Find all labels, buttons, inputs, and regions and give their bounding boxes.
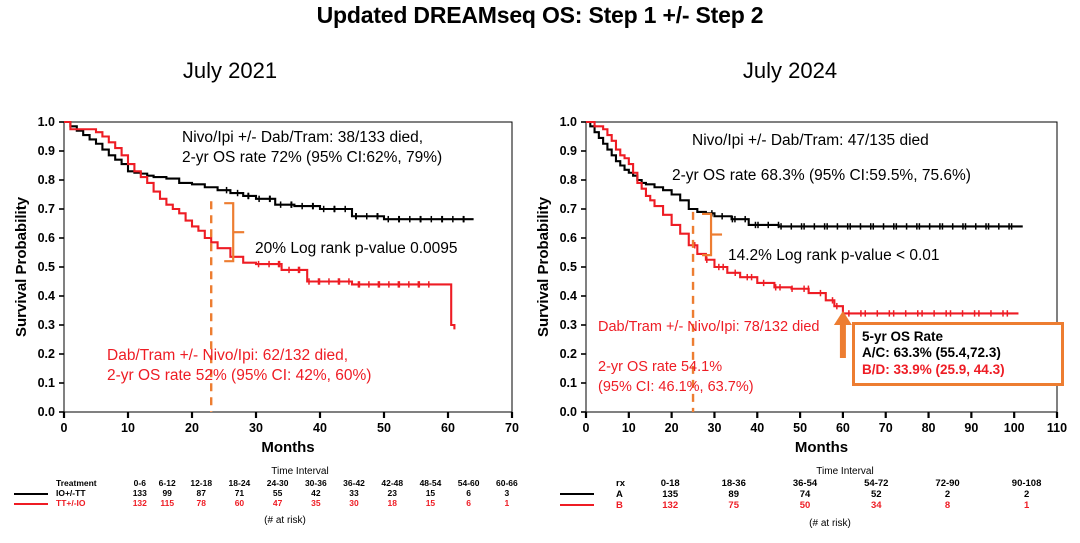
risk-count: 15 [411, 498, 449, 508]
five-year-os-callout: 5-yr OS Rate A/C: 63.3% (55.4,72.3) B/D:… [852, 322, 1064, 386]
risk-row-label: A [616, 489, 642, 500]
y-tick-label: 0.4 [560, 289, 577, 303]
x-axis-label: Months [261, 439, 314, 456]
risk-count: 71 [220, 488, 258, 498]
x-tick-label: 10 [622, 421, 636, 435]
risk-count: 55 [259, 488, 297, 498]
interval-header-2: 12-18 [182, 478, 220, 488]
x-tick-label: 20 [665, 421, 679, 435]
risk-count: 89 [698, 489, 769, 500]
risk-count: 34 [841, 500, 912, 511]
table-row: TT+/-IO1321157860473530181561 [14, 498, 526, 508]
risk-table-header-row: rx0-1818-3636-5454-7272-9090-108 [560, 478, 1070, 489]
y-tick-label: 0.2 [560, 347, 577, 361]
interval-header-4: 24-30 [259, 478, 297, 488]
risk-count: 133 [127, 488, 152, 498]
y-tick-label: 0.9 [560, 144, 577, 158]
y-tick-label: 0.9 [38, 144, 55, 158]
legend-line-icon [560, 504, 594, 506]
annotation-red-line-2: 2-yr OS rate 52% (95% CI: 42%, 60%) [107, 367, 371, 384]
x-tick-label: 60 [836, 421, 850, 435]
y-tick-label: 0.4 [38, 289, 55, 303]
y-tick-label: 0.3 [560, 318, 577, 332]
x-tick-label: 70 [505, 421, 519, 435]
risk-count: 6 [450, 498, 488, 508]
y-tick-label: 0.5 [38, 260, 55, 274]
x-tick-label: 30 [249, 421, 263, 435]
annotation-red-line-2: 2-yr OS rate 54.1% [598, 359, 722, 375]
x-tick-label: 110 [1047, 421, 1067, 435]
annotation-red-line-3: (95% CI: 46.1%, 63.7%) [598, 379, 754, 395]
legend-key-red [560, 500, 616, 511]
risk-count: 74 [769, 489, 840, 500]
risk-count: 75 [698, 500, 769, 511]
risk-count: 135 [642, 489, 698, 500]
legend-line-icon [14, 503, 48, 505]
annotation-logrank: 14.2% Log rank p-value < 0.01 [728, 247, 940, 264]
annotation-red-line-1: Dab/Tram +/- Nivo/Ipi: 62/132 died, [107, 347, 348, 364]
legend-key-black [14, 488, 56, 498]
page-title: Updated DREAMseq OS: Step 1 +/- Step 2 [0, 2, 1080, 29]
risk-count: 42 [297, 488, 335, 498]
at-risk-footer: (# at risk) [14, 515, 526, 526]
risk-count: 30 [335, 498, 373, 508]
x-tick-label: 10 [121, 421, 135, 435]
x-tick-label: 0 [583, 421, 590, 435]
y-tick-label: 0.7 [38, 202, 55, 216]
risk-count: 23 [373, 488, 411, 498]
interval-header-4: 72-90 [912, 478, 983, 489]
y-tick-label: 1.0 [560, 115, 577, 129]
interval-header-3: 54-72 [841, 478, 912, 489]
y-tick-label: 0.5 [560, 260, 577, 274]
risk-count: 6 [450, 488, 488, 498]
interval-header-0: 0-18 [642, 478, 698, 489]
annotation-black-line-2: 2-yr OS rate 68.3% (95% CI:59.5%, 75.6%) [672, 167, 971, 184]
callout-title: 5-yr OS Rate [862, 329, 1055, 345]
risk-row-label: B [616, 500, 642, 511]
annotation-black-line-2: 2-yr OS rate 72% (95% CI:62%, 79%) [182, 149, 442, 166]
annotation-red-line-1: Dab/Tram +/- Nivo/Ipi: 78/132 died [598, 319, 820, 335]
y-tick-label: 1.0 [38, 115, 55, 129]
risk-row-label: TT+/-IO [56, 498, 127, 508]
y-tick-label: 0.1 [560, 376, 577, 390]
interval-header-1: 6-12 [152, 478, 182, 488]
risk-count: 132 [642, 500, 698, 511]
x-tick-label: 0 [61, 421, 68, 435]
risk-count: 99 [152, 488, 182, 498]
interval-header-0: 0-6 [127, 478, 152, 488]
legend-key-spacer [560, 478, 616, 489]
interval-header-6: 36-42 [335, 478, 373, 488]
risk-count: 1 [983, 500, 1070, 511]
legend-line-icon [560, 493, 594, 495]
risk-row-header: rx [616, 478, 642, 489]
risk-count: 8 [912, 500, 983, 511]
risk-count: 1 [488, 498, 526, 508]
risk-table-header-row: Treatment0-66-1212-1818-2424-3030-3636-4… [14, 478, 526, 488]
legend-line-icon [14, 493, 48, 495]
annotation-logrank: 20% Log rank p-value 0.0095 [255, 240, 458, 257]
y-tick-label: 0.0 [560, 405, 577, 419]
x-tick-label: 40 [313, 421, 327, 435]
x-tick-label: 50 [793, 421, 807, 435]
x-tick-label: 20 [185, 421, 199, 435]
risk-table: rx0-1818-3636-5454-7272-9090-108A1358974… [560, 478, 1070, 511]
x-tick-label: 50 [377, 421, 391, 435]
risk-count: 2 [983, 489, 1070, 500]
left-panel-heading: July 2021 [80, 58, 380, 84]
callout-arm-a: A/C: 63.3% (55.4,72.3) [862, 345, 1055, 361]
time-interval-label: Time Interval [560, 466, 1070, 477]
interval-header-5: 30-36 [297, 478, 335, 488]
km-plot-2021: 1.00.90.80.70.60.50.40.30.20.10.0Surviva… [12, 112, 532, 472]
interval-header-10: 60-66 [488, 478, 526, 488]
legend-key-red [14, 498, 56, 508]
interval-header-2: 36-54 [769, 478, 840, 489]
y-tick-label: 0.6 [560, 231, 577, 245]
risk-count: 115 [152, 498, 182, 508]
table-row: A13589745222 [560, 489, 1070, 500]
x-tick-label: 30 [708, 421, 722, 435]
slide-root: Updated DREAMseq OS: Step 1 +/- Step 2 J… [0, 0, 1080, 543]
annotation-black-line-1: Nivo/Ipi +/- Dab/Tram: 38/133 died, [182, 129, 423, 146]
y-axis-label: Survival Probability [13, 196, 30, 337]
y-tick-label: 0.8 [38, 173, 55, 187]
risk-count: 87 [182, 488, 220, 498]
x-tick-label: 80 [922, 421, 936, 435]
risk-count: 33 [335, 488, 373, 498]
risk-count: 3 [488, 488, 526, 498]
risk-count: 18 [373, 498, 411, 508]
at-risk-footer: (# at risk) [560, 518, 1070, 529]
x-tick-label: 70 [879, 421, 893, 435]
y-tick-label: 0.7 [560, 202, 577, 216]
legend-key-spacer [14, 478, 56, 488]
risk-count: 78 [182, 498, 220, 508]
risk-table: Treatment0-66-1212-1818-2424-3030-3636-4… [14, 478, 526, 508]
risk-count: 50 [769, 500, 840, 511]
x-tick-label: 60 [441, 421, 455, 435]
y-tick-label: 0.6 [38, 231, 55, 245]
y-tick-label: 0.8 [560, 173, 577, 187]
risk-count: 2 [912, 489, 983, 500]
legend-key-black [560, 489, 616, 500]
y-axis-label: Survival Probability [535, 196, 552, 337]
y-tick-label: 0.1 [38, 376, 55, 390]
risk-row-label: IO+/-TT [56, 488, 127, 498]
x-axis-label: Months [795, 439, 848, 456]
risk-table-2021: Time Interval Treatment0-66-1212-1818-24… [14, 466, 526, 526]
right-panel-heading: July 2024 [640, 58, 940, 84]
interval-header-3: 18-24 [220, 478, 258, 488]
time-interval-label: Time Interval [14, 466, 526, 477]
x-tick-label: 100 [1004, 421, 1025, 435]
interval-header-7: 42-48 [373, 478, 411, 488]
table-row: B13275503481 [560, 500, 1070, 511]
table-row: IO+/-TT133998771554233231563 [14, 488, 526, 498]
y-tick-label: 0.0 [38, 405, 55, 419]
callout-arm-b: B/D: 33.9% (25.9, 44.3) [862, 362, 1055, 378]
x-tick-label: 40 [750, 421, 764, 435]
risk-row-header: Treatment [56, 478, 127, 488]
risk-table-2024: Time Interval rx0-1818-3636-5454-7272-90… [560, 466, 1070, 529]
interval-header-8: 48-54 [411, 478, 449, 488]
interval-header-1: 18-36 [698, 478, 769, 489]
risk-count: 15 [411, 488, 449, 498]
y-tick-label: 0.2 [38, 347, 55, 361]
interval-header-5: 90-108 [983, 478, 1070, 489]
annotation-black-line-1: Nivo/Ipi +/- Dab/Tram: 47/135 died [692, 132, 929, 149]
km-plot-2024: 1.00.90.80.70.60.50.40.30.20.10.0Surviva… [532, 112, 1077, 472]
risk-count: 132 [127, 498, 152, 508]
risk-count: 52 [841, 489, 912, 500]
risk-count: 60 [220, 498, 258, 508]
risk-count: 35 [297, 498, 335, 508]
interval-header-9: 54-60 [450, 478, 488, 488]
y-tick-label: 0.3 [38, 318, 55, 332]
risk-count: 47 [259, 498, 297, 508]
x-tick-label: 90 [964, 421, 978, 435]
